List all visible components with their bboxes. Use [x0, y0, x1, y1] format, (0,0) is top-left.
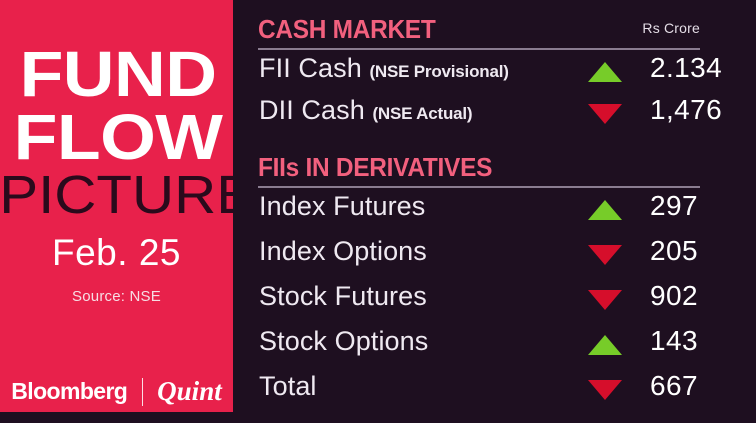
triangle-down-icon	[588, 104, 622, 124]
row-label-main: Index Futures	[259, 191, 425, 221]
row-value: 902	[650, 280, 698, 312]
data-panel: CASH MARKET Rs Crore FII Cash (NSE Provi…	[233, 0, 756, 423]
row-label: Index Options	[259, 236, 427, 267]
table-row: Index Futures 297	[258, 188, 700, 233]
logo-divider	[142, 378, 143, 406]
row-value: 205	[650, 235, 698, 267]
row-label-sub: (NSE Actual)	[372, 104, 472, 123]
row-label-sub: (NSE Provisional)	[369, 62, 508, 81]
row-value: 297	[650, 190, 698, 222]
row-value: 2.134	[650, 52, 722, 84]
logo-bloomberg-text: Bloomberg	[11, 378, 127, 404]
row-label-main: Stock Futures	[259, 281, 427, 311]
triangle-down-icon	[588, 245, 622, 265]
date-label: Feb. 25	[0, 234, 233, 271]
triangle-up-icon	[588, 62, 622, 82]
headline-line-2: FLOW	[0, 105, 233, 169]
row-label: Index Futures	[259, 191, 425, 222]
row-label-main: Stock Options	[259, 326, 428, 356]
source-label: Source: NSE	[0, 288, 233, 305]
row-label: Total	[259, 371, 317, 402]
triangle-up-icon	[588, 200, 622, 220]
section-title: CASH MARKET	[258, 14, 435, 44]
table-row: FII Cash (NSE Provisional) 2.134	[258, 50, 700, 92]
table-row: Total 667	[258, 368, 700, 413]
table-row: DII Cash (NSE Actual) 1,476	[258, 92, 700, 134]
logo-quint-text: Quint	[157, 376, 222, 406]
row-label-main: Index Options	[259, 236, 427, 266]
branding-panel: FUND FLOW PICTURE Feb. 25 Source: NSE Bl…	[0, 0, 233, 412]
row-label: DII Cash (NSE Actual)	[259, 95, 472, 126]
fund-flow-picture-graphic: FUND FLOW PICTURE Feb. 25 Source: NSE Bl…	[0, 0, 756, 423]
triangle-down-icon	[588, 380, 622, 400]
row-label-main: Total	[259, 371, 317, 401]
bottom-strip	[0, 412, 233, 423]
row-value: 1,476	[650, 94, 722, 126]
triangle-up-icon	[588, 335, 622, 355]
row-label: FII Cash (NSE Provisional)	[259, 53, 509, 84]
section-header: FIIs IN DERIVATIVES	[258, 152, 700, 188]
triangle-down-icon	[588, 290, 622, 310]
section-unit-label: Rs Crore	[642, 20, 700, 36]
headline-line-1: FUND	[0, 42, 233, 106]
row-label-main: DII Cash	[259, 95, 365, 125]
headline-line-3: PICTURE	[0, 168, 233, 222]
section-header: CASH MARKET Rs Crore	[258, 14, 700, 50]
table-row: Stock Options 143	[258, 323, 700, 368]
row-label: Stock Futures	[259, 281, 427, 312]
section-fiis-in-derivatives: FIIs IN DERIVATIVES Index Futures 297 In…	[258, 152, 700, 413]
table-row: Index Options 205	[258, 233, 700, 278]
row-label-main: FII Cash	[259, 53, 362, 83]
row-label: Stock Options	[259, 326, 428, 357]
row-value: 143	[650, 325, 698, 357]
section-title: FIIs IN DERIVATIVES	[258, 152, 492, 182]
section-cash-market: CASH MARKET Rs Crore FII Cash (NSE Provi…	[258, 14, 700, 134]
bloombergquint-logo: Bloomberg Quint	[0, 376, 233, 407]
row-value: 667	[650, 370, 698, 402]
table-row: Stock Futures 902	[258, 278, 700, 323]
